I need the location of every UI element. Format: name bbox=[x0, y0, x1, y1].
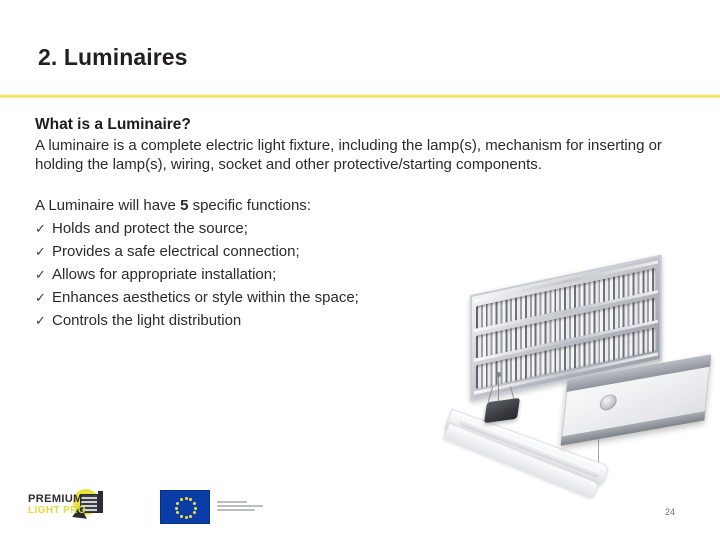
eu-star-icon bbox=[194, 507, 197, 510]
check-icon: ✓ bbox=[35, 286, 52, 309]
list-item-label: Allows for appropriate installation; bbox=[52, 263, 276, 286]
premium-light-pro-logo: PREMIUM LIGHT PRO bbox=[28, 488, 114, 526]
eu-star-icon bbox=[189, 515, 192, 518]
list-item-label: Enhances aesthetics or style within the … bbox=[52, 286, 359, 309]
list-item: ✓ Holds and protect the source; bbox=[35, 217, 690, 240]
eu-caption-line bbox=[217, 501, 247, 503]
eu-caption-line bbox=[217, 505, 263, 507]
eu-star-icon bbox=[180, 498, 183, 501]
slide-canvas: 2. Luminaires What is a Luminaire? A lum… bbox=[0, 0, 720, 539]
lead-heading: What is a Luminaire? bbox=[35, 116, 690, 134]
luminaire-image-group bbox=[440, 276, 720, 471]
eu-star-icon bbox=[175, 507, 178, 510]
check-icon: ✓ bbox=[35, 263, 52, 286]
functions-intro-after: specific functions: bbox=[188, 197, 311, 214]
eu-star-icon bbox=[185, 497, 188, 500]
list-item-label: Holds and protect the source; bbox=[52, 217, 248, 240]
page-title: 2. Luminaires bbox=[38, 44, 188, 71]
list-item-label: Provides a safe electrical connection; bbox=[52, 240, 300, 263]
eu-star-icon bbox=[185, 516, 188, 519]
eu-star-icon bbox=[193, 502, 196, 505]
eu-star-icon bbox=[176, 511, 179, 514]
logo-wordmark-premium: PREMIUM bbox=[28, 493, 83, 505]
pendant-gear-box bbox=[484, 398, 520, 423]
functions-intro-before: A Luminaire will have bbox=[35, 197, 180, 214]
eu-caption-line bbox=[217, 509, 255, 511]
eu-funding-logo bbox=[160, 490, 269, 524]
logo-wordmark-light-pro: LIGHT PRO bbox=[28, 505, 86, 516]
eu-star-icon bbox=[180, 515, 183, 518]
eu-star-icon bbox=[189, 498, 192, 501]
logo-bar bbox=[98, 491, 103, 513]
functions-intro: A Luminaire will have 5 specific functio… bbox=[35, 196, 690, 215]
check-icon: ✓ bbox=[35, 240, 52, 263]
eu-caption-text bbox=[217, 501, 269, 513]
title-divider-rule bbox=[0, 94, 720, 98]
lead-paragraph: A luminaire is a complete electric light… bbox=[35, 136, 685, 174]
check-icon: ✓ bbox=[35, 217, 52, 240]
eu-star-icon bbox=[176, 502, 179, 505]
eu-flag-icon bbox=[160, 490, 210, 524]
check-icon: ✓ bbox=[35, 309, 52, 332]
list-item-label: Controls the light distribution bbox=[52, 309, 241, 332]
page-number: 24 bbox=[665, 507, 675, 517]
eu-star-icon bbox=[193, 511, 196, 514]
list-item: ✓ Provides a safe electrical connection; bbox=[35, 240, 690, 263]
